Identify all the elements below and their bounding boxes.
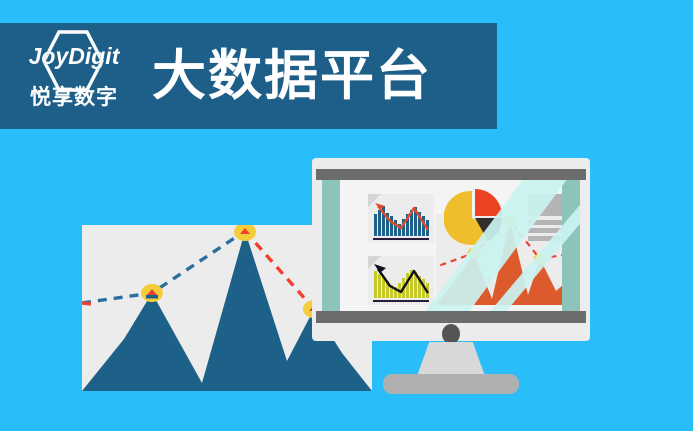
screen-side-band-left [322,180,340,311]
desktop-monitor [312,158,590,388]
image-placeholder [528,194,562,216]
text-line [528,228,562,233]
peak-marker [504,217,517,228]
peak-marker [534,254,547,265]
dashboard-content [340,180,562,311]
trend-line-left-stub [82,303,92,304]
screen-side-band-right [562,180,580,311]
monitor-stand-base [383,374,519,394]
monitor-top-bar [316,169,586,180]
pie-chart [444,188,504,248]
monitor-stand-neck [417,342,485,376]
peak-marker [468,248,481,259]
pie-slice-b [475,189,502,216]
content-placeholder-block [528,194,562,238]
page-title: 大数据平台 [152,49,432,103]
mini-chart-card-olive [368,256,434,305]
peak-marker [234,225,256,241]
text-line [528,220,562,225]
poster-canvas: JoyDigit 悦享数字 大数据平台 [0,0,693,431]
blue-bar-chart [368,194,434,243]
text-line [528,236,562,241]
power-indicator[interactable] [442,324,460,344]
logo-wordmark: JoyDigit [29,43,120,70]
trend-line-ascending [82,231,245,303]
peak-marker [141,284,163,302]
brand-logo: JoyDigit 悦享数字 [14,26,134,126]
olive-bar-chart [368,256,434,305]
monitor-screen [322,180,580,311]
monitor-bottom-bar [316,311,586,323]
logo-subtitle: 悦享数字 [30,81,118,111]
mini-chart-card-blue [368,194,434,243]
header-banner: JoyDigit 悦享数字 大数据平台 [0,23,497,129]
